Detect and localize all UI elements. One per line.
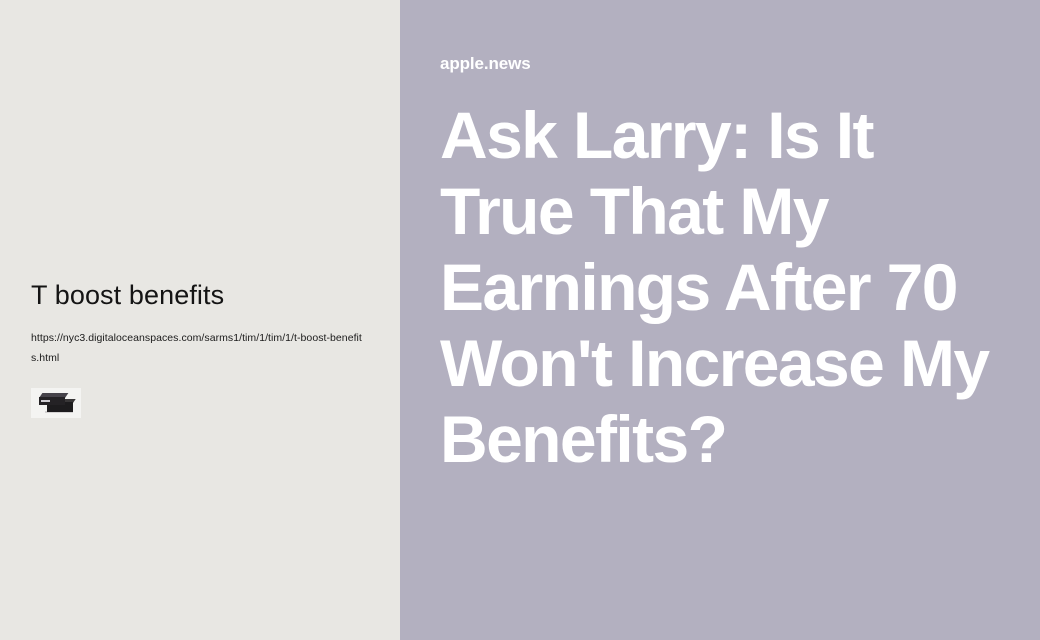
link-preview-thumbnail[interactable]: [31, 388, 81, 418]
article-hero-panel[interactable]: apple.news Ask Larry: Is It True That My…: [400, 0, 1040, 640]
link-preview-panel: T boost benefits https://nyc3.digitaloce…: [0, 0, 400, 640]
link-preview-url[interactable]: https://nyc3.digitaloceanspaces.com/sarm…: [31, 311, 362, 368]
article-headline: Ask Larry: Is It True That My Earnings A…: [440, 97, 1000, 477]
link-preview-card[interactable]: T boost benefits https://nyc3.digitaloce…: [31, 279, 371, 418]
article-source-label: apple.news: [440, 53, 531, 74]
product-box-icon: [31, 388, 81, 418]
link-preview-title: T boost benefits: [31, 279, 371, 311]
page-root: T boost benefits https://nyc3.digitaloce…: [0, 0, 1040, 640]
